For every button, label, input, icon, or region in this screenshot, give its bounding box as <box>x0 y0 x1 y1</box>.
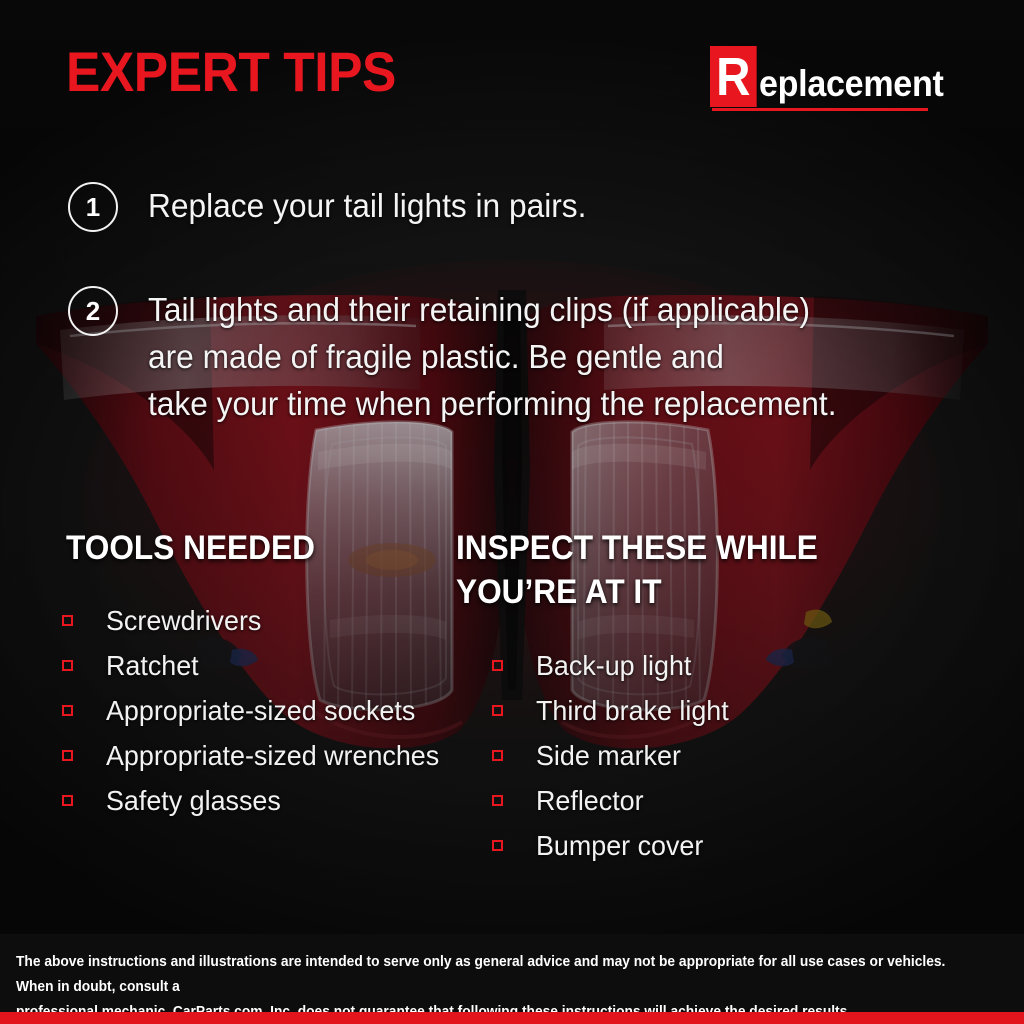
tip-number-badge-1: 1 <box>68 182 118 232</box>
logo-underline <box>712 108 928 111</box>
checkbox-bullet-icon <box>492 660 503 671</box>
list-item-label: Ratchet <box>106 651 199 681</box>
list-item-label: Back-up light <box>536 651 691 681</box>
tip-line: Replace your tail lights in pairs. <box>148 182 586 229</box>
tip-text-1: Replace your tail lights in pairs. <box>148 182 586 229</box>
list-item: Bumper cover <box>492 823 737 868</box>
checkbox-bullet-icon <box>492 840 503 851</box>
bottom-accent-bar <box>0 1012 1024 1024</box>
logo-r-mark: R <box>710 46 757 107</box>
checkbox-bullet-icon <box>62 615 73 626</box>
list-item-label: Third brake light <box>536 696 729 726</box>
list-item-label: Appropriate-sized sockets <box>106 696 415 726</box>
tip-item-2: 2 Tail lights and their retaining clips … <box>68 286 865 427</box>
tools-needed-list: Screwdrivers Ratchet Appropriate-sized s… <box>62 598 453 823</box>
list-item: Appropriate-sized wrenches <box>62 733 453 778</box>
list-item: Appropriate-sized sockets <box>62 688 453 733</box>
list-item: Reflector <box>492 778 737 823</box>
checkbox-bullet-icon <box>62 660 73 671</box>
page-title: EXPERT TIPS <box>66 44 396 100</box>
checkbox-bullet-icon <box>492 750 503 761</box>
list-item-label: Bumper cover <box>536 831 703 861</box>
list-item: Screwdrivers <box>62 598 453 643</box>
tip-number-badge-2: 2 <box>68 286 118 336</box>
tip-line: are made of fragile plastic. Be gentle a… <box>148 333 837 380</box>
tip-line: Tail lights and their retaining clips (i… <box>148 286 837 333</box>
list-item-label: Reflector <box>536 786 644 816</box>
list-item-label: Side marker <box>536 741 681 771</box>
list-item: Back-up light <box>492 643 737 688</box>
list-item-label: Safety glasses <box>106 786 281 816</box>
tip-item-1: 1 Replace your tail lights in pairs. <box>68 182 605 232</box>
checkbox-bullet-icon <box>492 705 503 716</box>
inspect-these-list: Back-up light Third brake light Side mar… <box>492 643 737 868</box>
disclaimer-footer: The above instructions and illustrations… <box>0 934 1024 1012</box>
logo-wordmark: eplacement <box>759 65 944 107</box>
checkbox-bullet-icon <box>62 750 73 761</box>
tools-needed-heading: TOOLS NEEDED <box>66 526 419 570</box>
disclaimer-line-1: The above instructions and illustrations… <box>16 950 953 1000</box>
list-item: Side marker <box>492 733 737 778</box>
list-item-label: Appropriate-sized wrenches <box>106 741 439 771</box>
list-item: Safety glasses <box>62 778 453 823</box>
inspect-these-heading: INSPECT THESE WHILE YOU’RE AT IT <box>456 526 828 614</box>
checkbox-bullet-icon <box>62 705 73 716</box>
tip-line: take your time when performing the repla… <box>148 380 837 427</box>
list-item: Third brake light <box>492 688 737 733</box>
expert-tips-infographic: EXPERT TIPS R eplacement 1 Replace your … <box>0 0 1024 1024</box>
replacement-brand-logo: R eplacement <box>710 46 960 111</box>
checkbox-bullet-icon <box>492 795 503 806</box>
checkbox-bullet-icon <box>62 795 73 806</box>
list-item: Ratchet <box>62 643 453 688</box>
list-item-label: Screwdrivers <box>106 606 261 636</box>
tip-text-2: Tail lights and their retaining clips (i… <box>148 286 837 427</box>
